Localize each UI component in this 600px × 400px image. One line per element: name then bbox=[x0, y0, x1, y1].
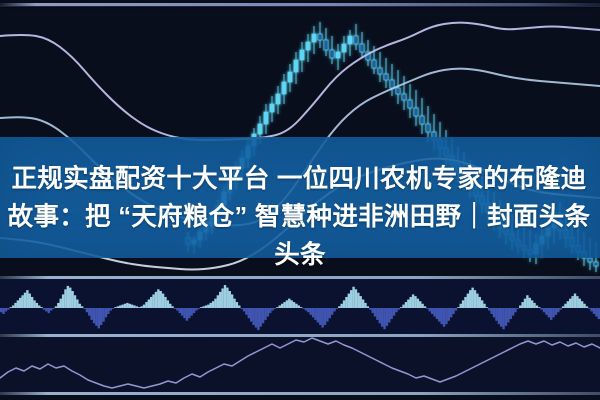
headline-line-2: 故事：把 “天府粮仓” 智慧种进非洲田野｜封面头条 bbox=[0, 198, 600, 236]
panel-separator-bottom bbox=[0, 392, 600, 395]
panel-separator-upper bbox=[0, 276, 600, 279]
headline-line-3: 头条 bbox=[0, 236, 600, 274]
headline: 正规实盘配资十大平台 一位四川农机专家的布隆迪 故事：把 “天府粮仓” 智慧种进… bbox=[0, 160, 600, 274]
panel-separator-lower bbox=[0, 334, 600, 337]
headline-line-1: 正规实盘配资十大平台 一位四川农机专家的布隆迪 bbox=[0, 160, 600, 198]
top-rule-secondary bbox=[0, 6, 600, 7]
banner-image: 正规实盘配资十大平台 一位四川农机专家的布隆迪 故事：把 “天府粮仓” 智慧种进… bbox=[0, 0, 600, 400]
